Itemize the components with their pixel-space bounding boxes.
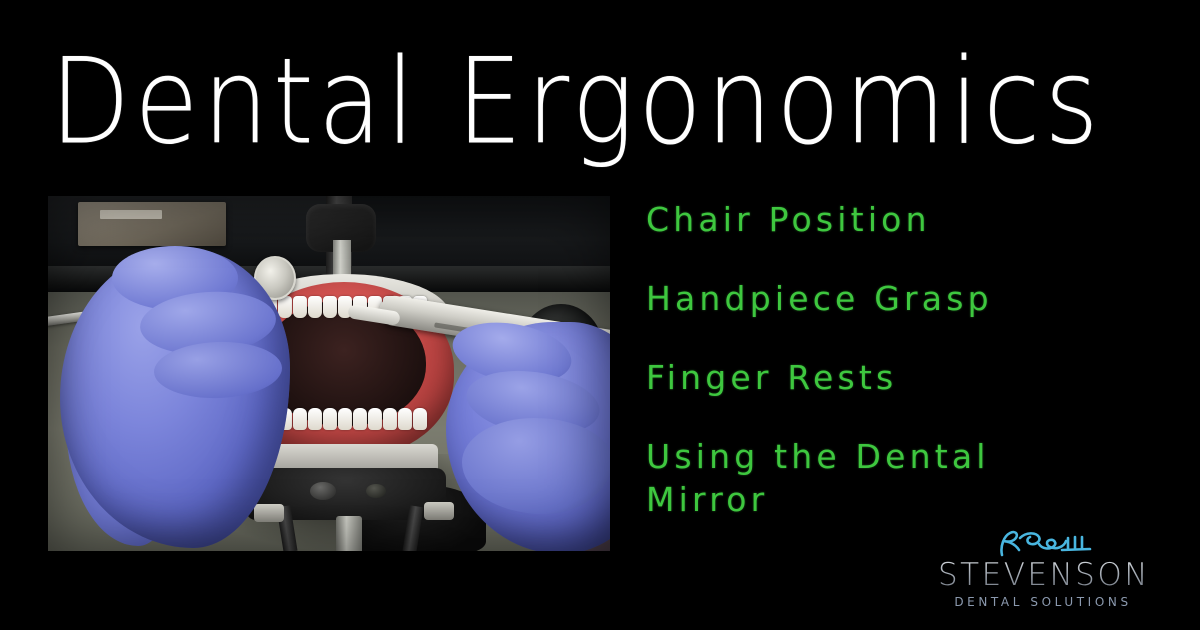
list-item: Chair Position — [646, 198, 1126, 241]
photo-box-label — [100, 210, 162, 219]
brand-logo: STEVENSON DENTAL SOLUTIONS — [938, 528, 1148, 614]
brand-tagline: DENTAL SOLUTIONS — [938, 593, 1148, 611]
slide-canvas: Dental Ergonomics — [0, 0, 1200, 630]
list-item: Handpiece Grasp — [646, 277, 1126, 320]
stand-knob-right — [424, 502, 454, 520]
mounting-plate-hole-b — [366, 484, 386, 498]
brand-name: STEVENSON — [938, 558, 1148, 592]
stand-knob-left — [254, 504, 284, 522]
list-item: Finger Rests — [646, 356, 1126, 399]
list-item: Using the Dental Mirror — [646, 435, 1126, 521]
page-title: Dental Ergonomics — [50, 42, 1092, 164]
signature-rgsiii-icon — [938, 528, 1148, 558]
stand-column — [336, 516, 362, 551]
dental-ergonomics-photo — [48, 196, 610, 551]
mounting-plate-hole-a — [310, 482, 336, 500]
photo-cardboard-box — [78, 202, 226, 246]
topic-list: Chair Position Handpiece Grasp Finger Re… — [646, 198, 1126, 521]
